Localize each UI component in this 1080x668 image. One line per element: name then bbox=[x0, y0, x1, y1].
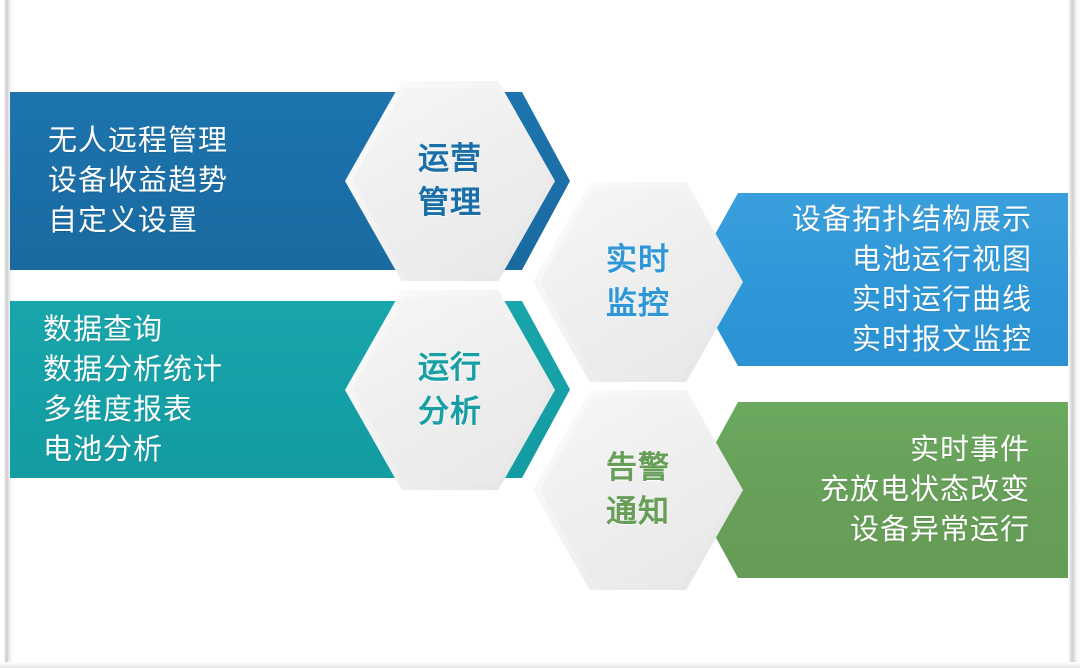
page-bottom-edge bbox=[0, 662, 1080, 668]
hexagon-label-monitoring: 实时 监控 bbox=[606, 238, 670, 326]
analysis-items: 数据查询 数据分析统计 多维度报表 电池分析 bbox=[43, 310, 223, 470]
hexagon-label-operations: 运营 管理 bbox=[418, 137, 482, 225]
hexagon-monitoring[interactable]: 实时 监控 bbox=[533, 182, 743, 382]
page-right-edge bbox=[1068, 0, 1080, 668]
hexagon-alarm[interactable]: 告警 通知 bbox=[533, 390, 743, 590]
diagram-canvas: 无人远程管理 设备收益趋势 自定义设置 数据查询 数据分析统计 多维度报表 电池… bbox=[0, 0, 1080, 668]
monitoring-content-bar: 设备拓扑结构展示 电池运行视图 实时运行曲线 实时报文监控 bbox=[690, 193, 1070, 366]
alarm-items: 实时事件 充放电状态改变 设备异常运行 bbox=[820, 430, 1030, 550]
monitoring-items: 设备拓扑结构展示 电池运行视图 实时运行曲线 实时报文监控 bbox=[792, 200, 1032, 360]
operations-items: 无人远程管理 设备收益趋势 自定义设置 bbox=[48, 121, 228, 241]
alarm-content-bar: 实时事件 充放电状态改变 设备异常运行 bbox=[690, 402, 1070, 578]
hexagon-label-alarm: 告警 通知 bbox=[606, 446, 670, 534]
hexagon-label-analysis: 运行 分析 bbox=[418, 346, 482, 434]
